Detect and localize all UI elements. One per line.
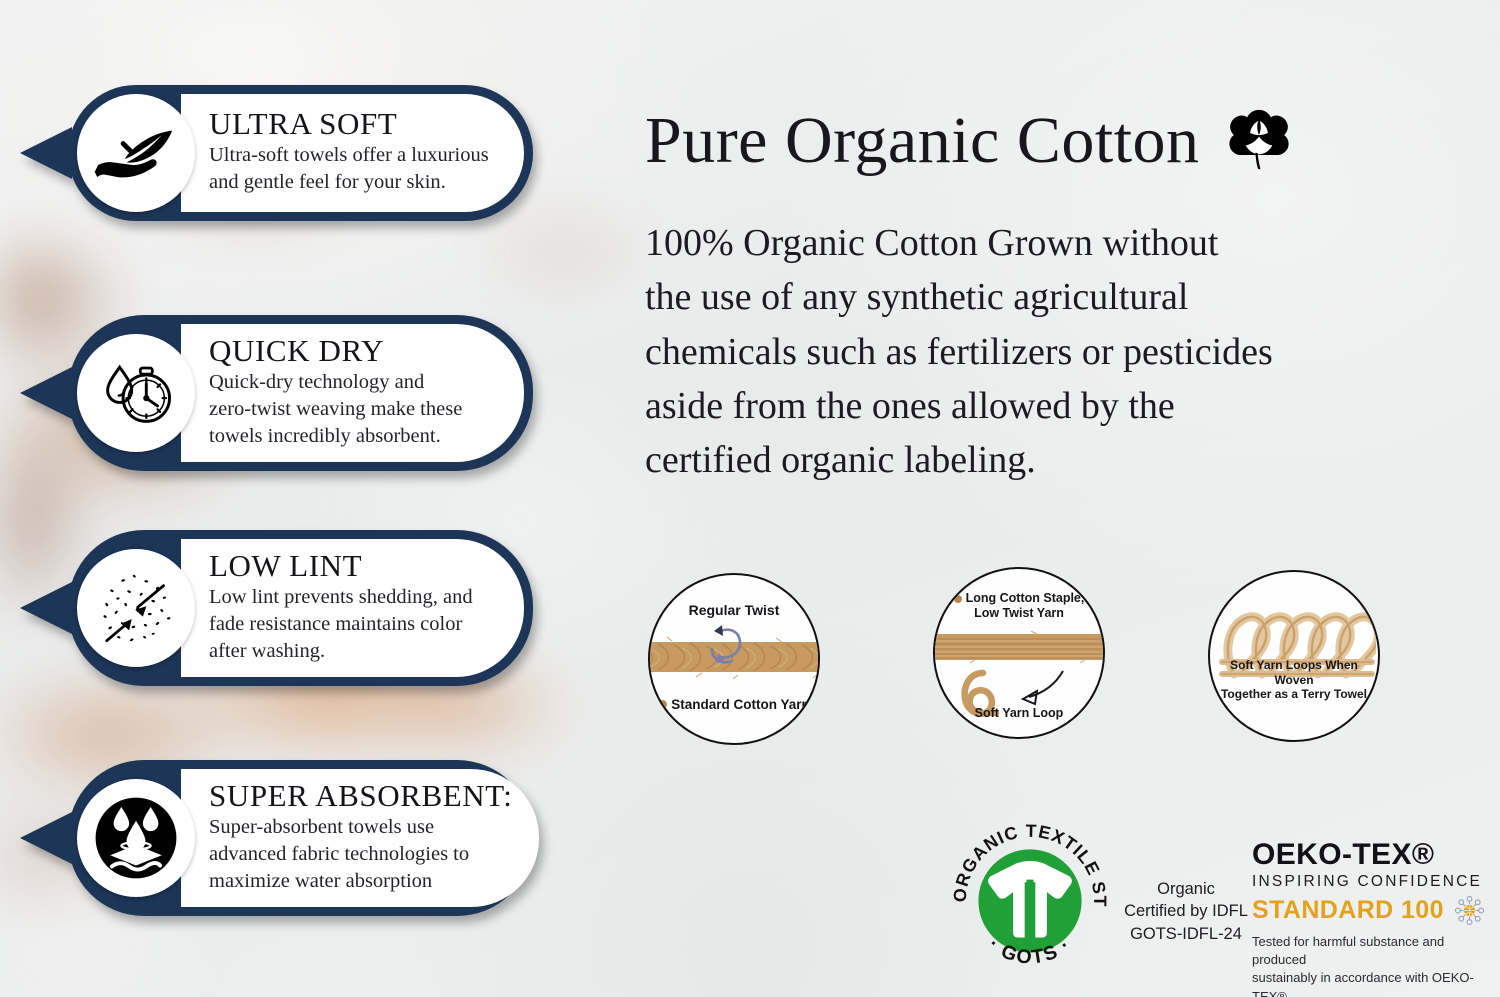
feature-text-card: ULTRA SOFT Ultra-soft towels offer a lux… [181,94,524,212]
body-line: certified organic labeling. [645,433,1475,487]
feature-title: LOW LINT [209,550,498,582]
feature-desc-line: towels incredibly absorbent. [209,423,498,450]
yarn-top-label: Long Cotton Staple, Low Twist Yarn [935,591,1103,622]
idfl-line-3: GOTS-IDFL-24 [1122,923,1250,945]
lint-particles-icon [77,549,195,667]
feature-text-card: LOW LINT Low lint prevents shedding, and… [181,539,524,677]
feature-title: ULTRA SOFT [209,108,498,140]
hand-feather-icon [77,94,195,212]
feature-pill-quick-dry: QUICK DRY Quick-dry technology and zero-… [68,315,533,471]
pill-tail [20,582,72,634]
body-line: 100% Organic Cotton Grown without [645,216,1475,270]
oeko-fine-line-2: sustainably in accordance with OEKO-TEX® [1252,969,1492,997]
yarn-top-label-line2: Low Twist Yarn [935,606,1103,621]
gots-certification-logo: GLOBAL ORGANIC TEXTILE STANDARD · GOTS · [932,812,1128,990]
loop-pointer-arrow-icon [1013,667,1067,707]
feature-desc-line: Low lint prevents shedding, and [209,584,498,611]
feature-desc-line: advanced fabric technologies to [209,841,513,868]
twist-arrow-icon [706,617,746,691]
yarn-dot-marker [954,595,962,603]
headline-row: Pure Organic Cotton [645,104,1296,178]
pill-tail [20,812,72,864]
yarn-bottom-label: Standard Cotton Yarn [650,697,818,713]
yarn-dot-marker [658,700,667,709]
yarn-diagram-terry-loops: Soft Yarn Loops When Woven Together as a… [1208,570,1380,742]
yarn-bottom-label: Soft Yarn Loops When Woven Together as a… [1210,658,1378,702]
oeko-tex-tagline: INSPIRING CONFIDENCE [1252,874,1492,890]
infographic-page: ULTRA SOFT Ultra-soft towels offer a lux… [0,0,1500,997]
feature-pill-body: ULTRA SOFT Ultra-soft towels offer a lux… [68,85,533,221]
oeko-tex-certification: OEKO-TEX® INSPIRING CONFIDENCE STANDARD … [1252,840,1492,997]
feature-text-card: QUICK DRY Quick-dry technology and zero-… [181,324,524,462]
feature-desc-line: after washing. [209,638,498,665]
yarn-bottom-label-line1: Soft Yarn Loops When Woven [1210,658,1378,687]
pill-tail [20,367,72,419]
body-line: the use of any synthetic agricultural [645,270,1475,324]
feature-desc-line: and gentle feel for your skin. [209,169,498,196]
yarn-strand-graphic [933,631,1105,663]
feature-desc-line: maximize water absorption [209,868,513,895]
idfl-line-1: Organic [1122,878,1250,900]
idfl-line-2: Certified by IDFL [1122,900,1250,922]
feature-pill-body: SUPER ABSORBENT: Super-absorbent towels … [68,760,533,916]
feature-pill-ultra-soft: ULTRA SOFT Ultra-soft towels offer a lux… [68,85,533,221]
feature-text-card: SUPER ABSORBENT: Super-absorbent towels … [181,769,539,907]
oeko-tex-fine-print: Tested for harmful substance and produce… [1252,933,1492,997]
yarn-bottom-label: Soft Yarn Loop [935,706,1103,721]
yarn-diagram-low-twist: Long Cotton Staple, Low Twist Yarn Soft … [933,567,1105,739]
oeko-tex-standard-row: STANDARD 100 [1252,895,1492,926]
feature-title: QUICK DRY [209,335,498,367]
yarn-bottom-label-line2: Together as a Terry Towel [1210,687,1378,702]
body-paragraph: 100% Organic Cotton Grown without the us… [645,216,1475,488]
cotton-boll-icon [1222,104,1296,178]
feature-title: SUPER ABSORBENT: [209,780,513,812]
feature-desc-line: zero-twist weaving make these [209,396,498,423]
feature-desc-line: Ultra-soft towels offer a luxurious [209,142,498,169]
yarn-diagram-regular-twist: Regular Twist Standard Cotton Yarn [648,573,820,745]
feature-pill-low-lint: LOW LINT Low lint prevents shedding, and… [68,530,533,686]
oeko-tex-brand: OEKO-TEX® [1252,840,1492,870]
oeko-fine-line-1: Tested for harmful substance and produce… [1252,933,1492,970]
droplet-stopwatch-icon [77,334,195,452]
feature-description: Super-absorbent towels use advanced fabr… [209,814,513,894]
made-in-green-burst-icon [1454,895,1485,926]
feature-desc-line: fade resistance maintains color [209,611,498,638]
water-absorption-icon [77,779,195,897]
page-title: Pure Organic Cotton [645,108,1200,174]
body-line: aside from the ones allowed by the [645,379,1475,433]
feature-desc-line: Quick-dry technology and [209,369,498,396]
feature-description: Quick-dry technology and zero-twist weav… [209,369,498,449]
feature-description: Low lint prevents shedding, and fade res… [209,584,498,664]
body-line: chemicals such as fertilizers or pestici… [645,325,1475,379]
feature-pill-super-absorbent: SUPER ABSORBENT: Super-absorbent towels … [68,760,533,916]
idfl-certification-text: Organic Certified by IDFL GOTS-IDFL-24 [1122,878,1250,945]
feature-pill-body: QUICK DRY Quick-dry technology and zero-… [68,315,533,471]
feature-desc-line: Super-absorbent towels use [209,814,513,841]
oeko-tex-standard: STANDARD 100 [1252,898,1444,923]
feature-description: Ultra-soft towels offer a luxurious and … [209,142,498,195]
feature-pill-body: LOW LINT Low lint prevents shedding, and… [68,530,533,686]
pill-tail [20,127,72,179]
